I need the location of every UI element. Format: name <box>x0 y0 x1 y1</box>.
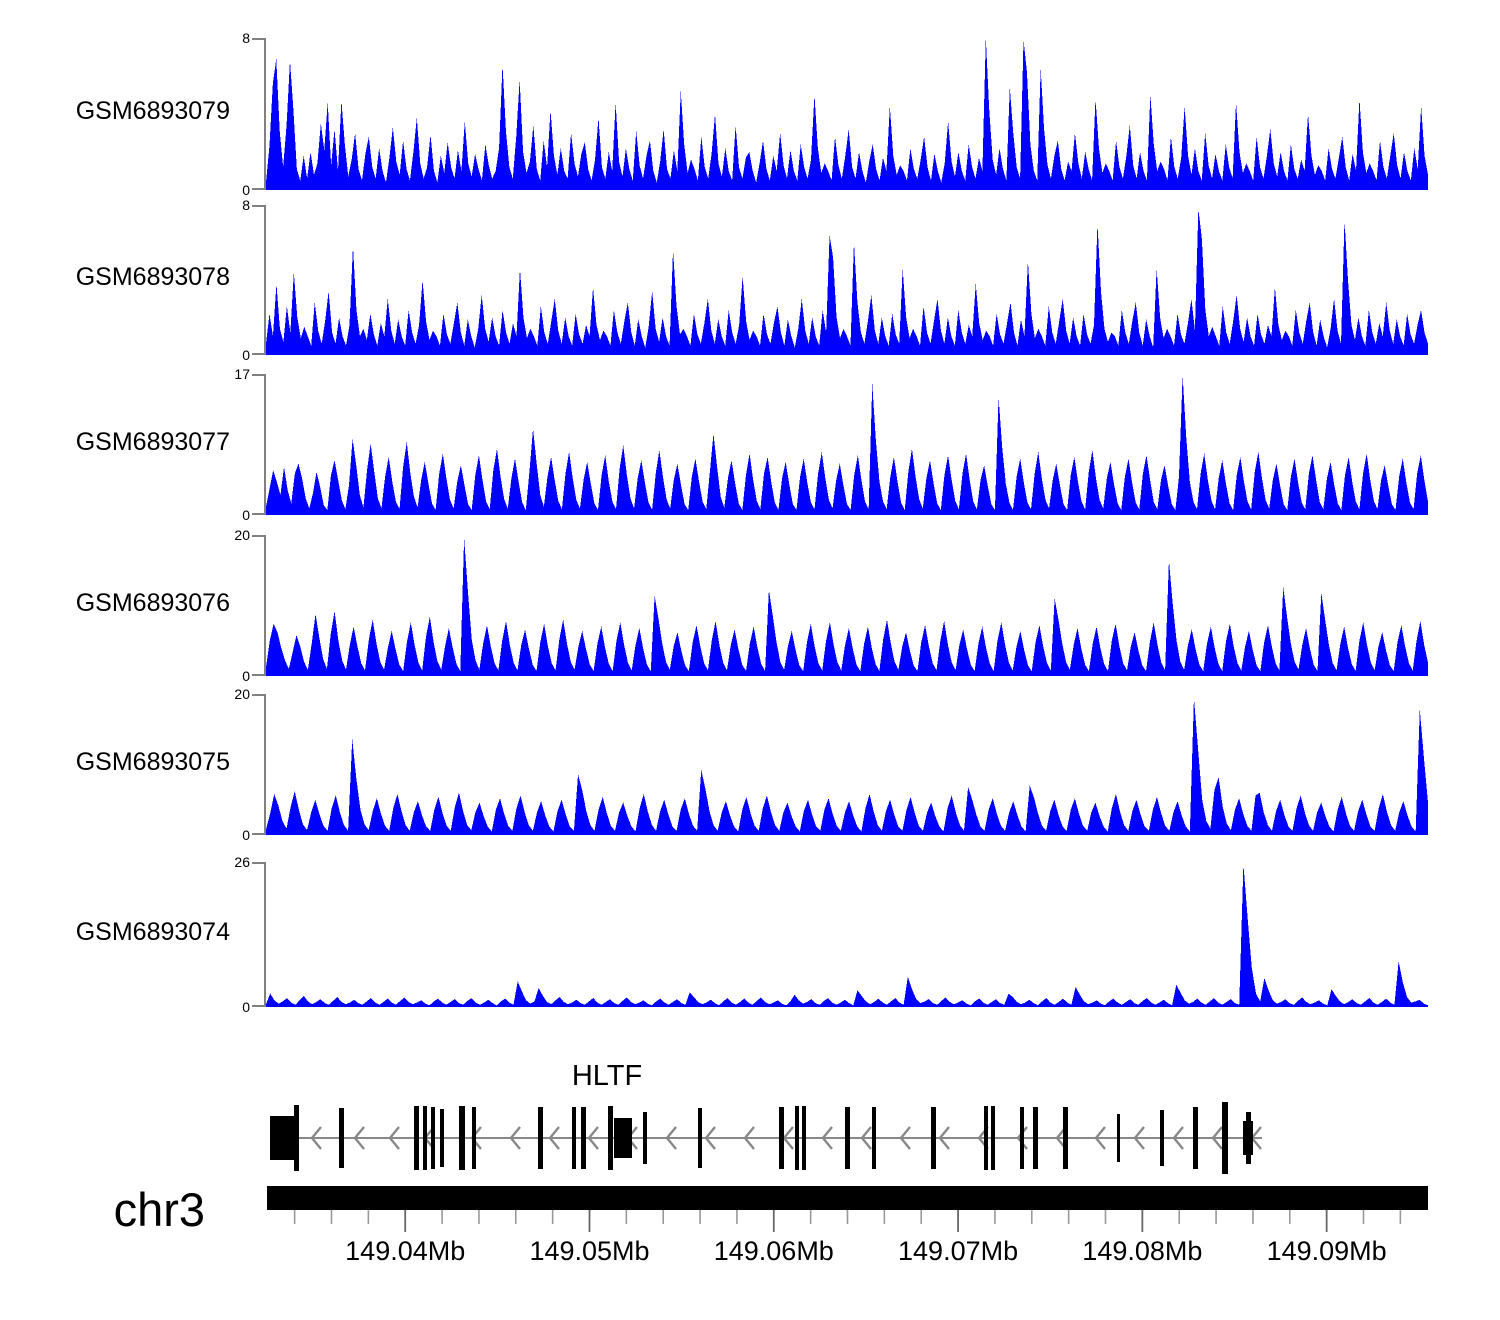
exon-block <box>1193 1107 1198 1169</box>
y-axis-tick-label: 0 <box>242 183 250 197</box>
exon-block <box>431 1107 435 1169</box>
axis-tick-label: 149.07Mb <box>898 1236 1018 1266</box>
track-plot-area: 170 <box>264 374 1428 515</box>
exon-block <box>459 1106 465 1170</box>
y-axis-tick-label: 20 <box>234 687 250 701</box>
exon-block <box>1117 1114 1120 1162</box>
exon-block <box>779 1107 784 1169</box>
exon-block <box>931 1107 936 1169</box>
y-axis-tick-label: 0 <box>242 828 250 842</box>
y-axis-tick <box>252 513 264 515</box>
y-axis-tick <box>252 535 264 537</box>
exon-block <box>802 1106 806 1170</box>
exon-block <box>698 1108 702 1168</box>
exon-block <box>294 1105 299 1171</box>
exon-block <box>1063 1107 1068 1169</box>
exon-block <box>608 1106 613 1170</box>
y-axis-tick-label: 8 <box>242 198 250 212</box>
coverage-track: GSM6893077170 <box>0 374 1500 515</box>
track-label-GSM6893075: GSM6893075 <box>76 750 230 775</box>
track-plot-area: 80 <box>264 38 1428 190</box>
exon-block <box>1020 1107 1024 1169</box>
coverage-area <box>266 205 1428 355</box>
exon-block <box>440 1109 444 1167</box>
utr-block <box>270 1116 298 1160</box>
y-axis-tick-label: 0 <box>242 1000 250 1014</box>
y-axis-tick <box>252 694 264 696</box>
exon-block <box>538 1107 543 1169</box>
coverage-track: GSM6893075200 <box>0 694 1500 835</box>
y-axis-tick-label: 17 <box>234 367 250 381</box>
coverage-track: GSM6893074260 <box>0 862 1500 1007</box>
exon-block <box>1160 1110 1164 1166</box>
gene-name-label: HLTF <box>0 1062 1500 1091</box>
exon-block <box>643 1112 647 1164</box>
exon-block <box>1246 1112 1251 1164</box>
y-axis-tick <box>252 353 264 355</box>
exon-block <box>845 1107 850 1169</box>
axis-tick-label: 149.09Mb <box>1267 1236 1387 1266</box>
y-axis-tick <box>252 674 264 676</box>
coverage-area <box>266 38 1428 190</box>
axis-tick-label: 149.08Mb <box>1082 1236 1202 1266</box>
y-axis-tick-label: 0 <box>242 508 250 522</box>
exon-block <box>339 1108 344 1168</box>
gene-model-svg <box>0 1096 1500 1180</box>
y-axis-tick <box>252 374 264 376</box>
axis-tick-label: 149.05Mb <box>529 1236 649 1266</box>
track-label-GSM6893074: GSM6893074 <box>76 920 230 945</box>
exon-block <box>1222 1102 1228 1174</box>
genome-browser: GSM689307980GSM689307880GSM6893077170GSM… <box>0 0 1500 1320</box>
coverage-track: GSM689307880 <box>0 205 1500 355</box>
y-axis-tick <box>252 38 264 40</box>
axis-tick-label: 149.04Mb <box>345 1236 465 1266</box>
track-plot-area: 260 <box>264 862 1428 1007</box>
coverage-track: GSM6893076200 <box>0 535 1500 676</box>
y-axis-tick-label: 0 <box>242 348 250 362</box>
y-axis-tick-label: 20 <box>234 528 250 542</box>
exon-block <box>572 1107 576 1169</box>
exon-block <box>872 1107 876 1169</box>
axis-tick-label: 149.06Mb <box>714 1236 834 1266</box>
exon-block <box>795 1106 799 1170</box>
y-axis-tick <box>252 833 264 835</box>
coverage-track: GSM689307980 <box>0 38 1500 190</box>
y-axis-tick-label: 8 <box>242 31 250 45</box>
track-label-GSM6893077: GSM6893077 <box>76 430 230 455</box>
exon-block <box>472 1107 476 1169</box>
exon-block <box>414 1106 419 1170</box>
y-axis-tick-label: 26 <box>234 855 250 869</box>
y-axis-tick <box>252 205 264 207</box>
exon-block <box>1033 1107 1038 1169</box>
coverage-area <box>266 374 1428 515</box>
y-axis-tick <box>252 188 264 190</box>
coverage-area <box>266 535 1428 676</box>
exon-block <box>423 1106 427 1170</box>
exon-block <box>984 1106 988 1170</box>
y-axis-tick-label: 0 <box>242 669 250 683</box>
track-label-GSM6893076: GSM6893076 <box>76 591 230 616</box>
track-label-GSM6893078: GSM6893078 <box>76 265 230 290</box>
utr-block <box>614 1118 632 1158</box>
track-plot-area: 80 <box>264 205 1428 355</box>
exon-block <box>581 1107 586 1169</box>
genomic-axis: 149.04Mb149.05Mb149.06Mb149.07Mb149.08Mb… <box>0 1186 1500 1296</box>
chromosome-bar <box>267 1186 1428 1210</box>
track-plot-area: 200 <box>264 535 1428 676</box>
exon-block <box>991 1106 995 1170</box>
coverage-area <box>266 694 1428 835</box>
track-plot-area: 200 <box>264 694 1428 835</box>
y-axis-tick <box>252 862 264 864</box>
track-label-GSM6893079: GSM6893079 <box>76 99 230 124</box>
coverage-area <box>266 862 1428 1007</box>
y-axis-tick <box>252 1005 264 1007</box>
